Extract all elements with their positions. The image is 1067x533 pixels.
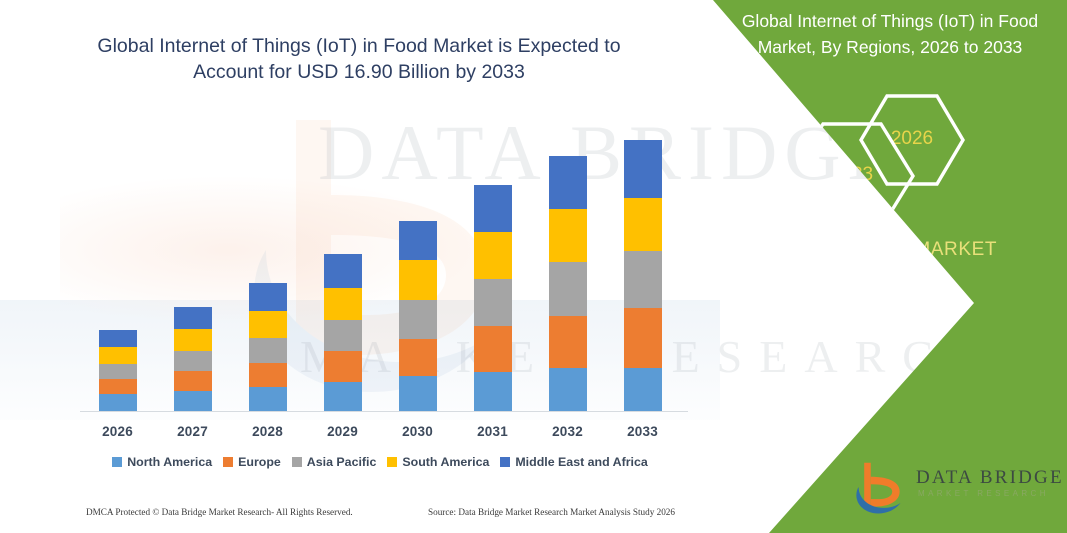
x-axis-label-2031: 2031: [474, 424, 512, 444]
legend-swatch-icon: [292, 457, 302, 467]
legend-item[interactable]: North America: [112, 455, 212, 469]
bar-column-2026: [99, 140, 137, 411]
green-side-panel: Global Internet of Things (IoT) in Food …: [677, 0, 1067, 533]
x-axis-label-2028: 2028: [249, 424, 287, 444]
bar-segment: [99, 347, 137, 364]
panel-title: Global Internet of Things (IoT) in Food …: [725, 8, 1055, 60]
legend-label: Europe: [238, 455, 281, 469]
legend-label: North America: [127, 455, 212, 469]
bar-segment: [549, 156, 587, 209]
bar-segment: [249, 283, 287, 310]
brand-line-1: DATA BRIDGE MARKET: [712, 236, 1062, 264]
bar-segment: [474, 185, 512, 232]
footer-copyright: DMCA Protected © Data Bridge Market Rese…: [86, 507, 353, 517]
bar-segment: [474, 232, 512, 279]
bar-segment: [249, 338, 287, 363]
x-axis-label-2030: 2030: [399, 424, 437, 444]
bar-segment: [324, 320, 362, 351]
company-logo-subtext: MARKET RESEARCH: [918, 489, 1049, 498]
bar-segment: [174, 307, 212, 329]
bar-segment: [249, 387, 287, 411]
chart-legend: North AmericaEuropeAsia PacificSouth Ame…: [80, 455, 680, 469]
bar-segment: [174, 351, 212, 371]
bar-segment: [399, 260, 437, 300]
bar-segment: [399, 221, 437, 261]
bar-segment: [474, 372, 512, 411]
bar-segment: [624, 198, 662, 251]
bar-column-2033: [624, 140, 662, 411]
chart-x-axis-labels: 20262027202820292030203120322033: [80, 424, 680, 444]
hexagon-group: 2026 2033: [787, 92, 967, 210]
bar-column-2028: [249, 140, 287, 411]
bar-segment: [474, 326, 512, 372]
bar-column-2031: [474, 140, 512, 411]
brand-name: DATA BRIDGE MARKET RESEARCH: [712, 236, 1062, 292]
legend-swatch-icon: [387, 457, 397, 467]
legend-item[interactable]: South America: [387, 455, 489, 469]
bar-segment: [549, 316, 587, 368]
legend-swatch-icon: [112, 457, 122, 467]
legend-label: Asia Pacific: [307, 455, 377, 469]
bar-segment: [549, 262, 587, 315]
bar-segment: [324, 351, 362, 381]
bar-segment: [324, 382, 362, 411]
bar-column-2030: [399, 140, 437, 411]
legend-swatch-icon: [500, 457, 510, 467]
legend-item[interactable]: Middle East and Africa: [500, 455, 647, 469]
legend-item[interactable]: Asia Pacific: [292, 455, 377, 469]
bar-segment: [174, 371, 212, 391]
bar-segment: [99, 379, 137, 395]
company-logo-text: DATA BRIDGE: [916, 467, 1064, 489]
bar-segment: [174, 391, 212, 411]
x-axis-label-2032: 2032: [549, 424, 587, 444]
page-title: Global Internet of Things (IoT) in Food …: [72, 33, 646, 85]
legend-label: Middle East and Africa: [515, 455, 647, 469]
stacked-bar-chart: [80, 140, 680, 411]
bar-segment: [624, 368, 662, 411]
legend-item[interactable]: Europe: [223, 455, 281, 469]
legend-label: South America: [402, 455, 489, 469]
footer: DMCA Protected © Data Bridge Market Rese…: [0, 505, 700, 525]
bar-segment: [624, 140, 662, 198]
bar-segment: [399, 376, 437, 411]
bar-segment: [324, 288, 362, 320]
bar-segment: [324, 254, 362, 287]
bar-segment: [399, 300, 437, 339]
legend-swatch-icon: [223, 457, 233, 467]
bar-segment: [99, 330, 137, 347]
bar-segment: [624, 308, 662, 368]
bar-segment: [624, 251, 662, 309]
x-axis-label-2027: 2027: [174, 424, 212, 444]
bar-segment: [249, 311, 287, 338]
bar-segment: [399, 339, 437, 377]
chart-pane: Global Internet of Things (IoT) in Food …: [0, 0, 720, 533]
bar-segment: [549, 368, 587, 411]
bar-segment: [249, 363, 287, 387]
hexagon-2033-label: 2033: [787, 164, 917, 186]
x-axis-label-2033: 2033: [624, 424, 662, 444]
company-logo: DATA BRIDGE MARKET RESEARCH: [852, 455, 1052, 517]
bar-segment: [174, 329, 212, 351]
bar-segment: [474, 279, 512, 326]
bar-column-2027: [174, 140, 212, 411]
x-axis-label-2029: 2029: [324, 424, 362, 444]
chart-axis-baseline: [80, 411, 688, 412]
bar-segment: [99, 364, 137, 379]
company-logo-b-icon: [852, 459, 910, 515]
bar-segment: [99, 394, 137, 411]
bar-column-2029: [324, 140, 362, 411]
bar-segment: [549, 209, 587, 262]
footer-source: Source: Data Bridge Market Research Mark…: [428, 507, 675, 517]
x-axis-label-2026: 2026: [99, 424, 137, 444]
bar-column-2032: [549, 140, 587, 411]
brand-line-2: RESEARCH: [712, 264, 1062, 292]
